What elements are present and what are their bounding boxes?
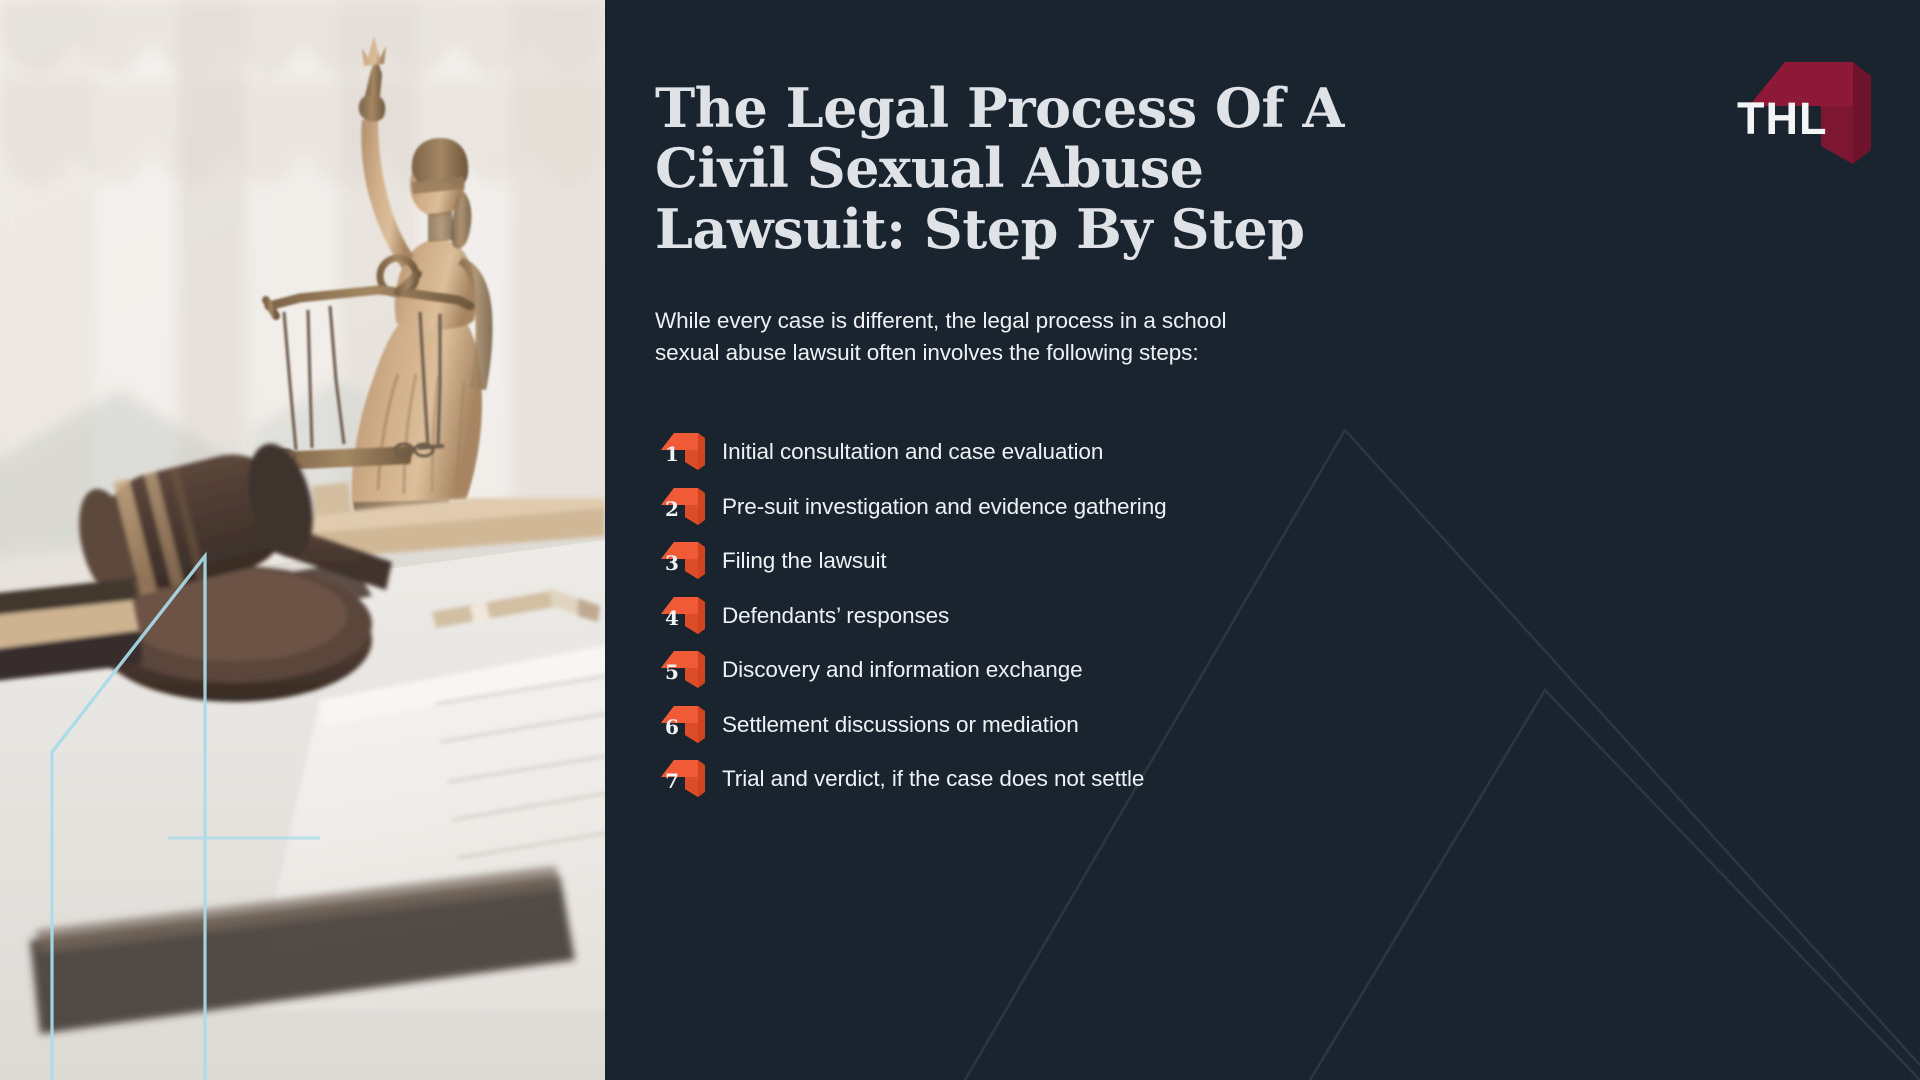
step-number: 5 — [665, 662, 679, 682]
logo-text: THL — [1737, 96, 1827, 141]
intro-paragraph: While every case is different, the legal… — [655, 305, 1375, 369]
title-line-1: The Legal Process Of A — [655, 76, 1344, 140]
photo-illustration — [0, 0, 605, 1080]
step-number: 7 — [665, 771, 679, 791]
step-label: Filing the lawsuit — [714, 548, 887, 574]
list-item: 5 Discovery and information exchange — [650, 643, 1550, 698]
step-marker-arrow-icon: 5 — [650, 645, 714, 695]
step-marker-arrow-icon: 7 — [650, 754, 714, 804]
step-number: 3 — [665, 553, 679, 573]
step-label: Trial and verdict, if the case does not … — [714, 766, 1144, 792]
list-item: 4 Defendants’ responses — [650, 589, 1550, 644]
step-number: 2 — [665, 499, 679, 519]
title-line-2: Civil Sexual Abuse — [655, 136, 1203, 200]
list-item: 6 Settlement discussions or mediation — [650, 698, 1550, 753]
lady-justice-gavel-photo — [0, 0, 605, 1080]
step-label: Initial consultation and case evaluation — [714, 439, 1103, 465]
infographic-root: THL The Legal Process Of A Civil Sexual … — [0, 0, 1920, 1080]
list-item: 2 Pre-suit investigation and evidence ga… — [650, 480, 1550, 535]
step-marker-arrow-icon: 6 — [650, 700, 714, 750]
content-panel: THL The Legal Process Of A Civil Sexual … — [605, 0, 1920, 1080]
list-item: 3 Filing the lawsuit — [650, 534, 1550, 589]
step-marker-arrow-icon: 2 — [650, 482, 714, 532]
step-marker-arrow-icon: 1 — [650, 427, 714, 477]
step-number: 1 — [665, 444, 679, 464]
page-title: The Legal Process Of A Civil Sexual Abus… — [655, 78, 1445, 259]
intro-line-2: sexual abuse lawsuit often involves the … — [655, 340, 1198, 365]
list-item: 7 Trial and verdict, if the case does no… — [650, 752, 1550, 807]
step-label: Defendants’ responses — [714, 603, 949, 629]
step-marker-arrow-icon: 4 — [650, 591, 714, 641]
step-marker-arrow-icon: 3 — [650, 536, 714, 586]
step-label: Settlement discussions or mediation — [714, 712, 1079, 738]
title-line-3: Lawsuit: Step By Step — [655, 197, 1305, 261]
list-item: 1 Initial consultation and case evaluati… — [650, 425, 1550, 480]
steps-list: 1 Initial consultation and case evaluati… — [650, 425, 1550, 807]
step-label: Discovery and information exchange — [714, 657, 1083, 683]
intro-line-1: While every case is different, the legal… — [655, 308, 1226, 333]
step-number: 4 — [665, 608, 679, 628]
step-label: Pre-suit investigation and evidence gath… — [714, 494, 1167, 520]
thl-logo[interactable]: THL — [1745, 38, 1875, 168]
step-number: 6 — [665, 717, 679, 737]
